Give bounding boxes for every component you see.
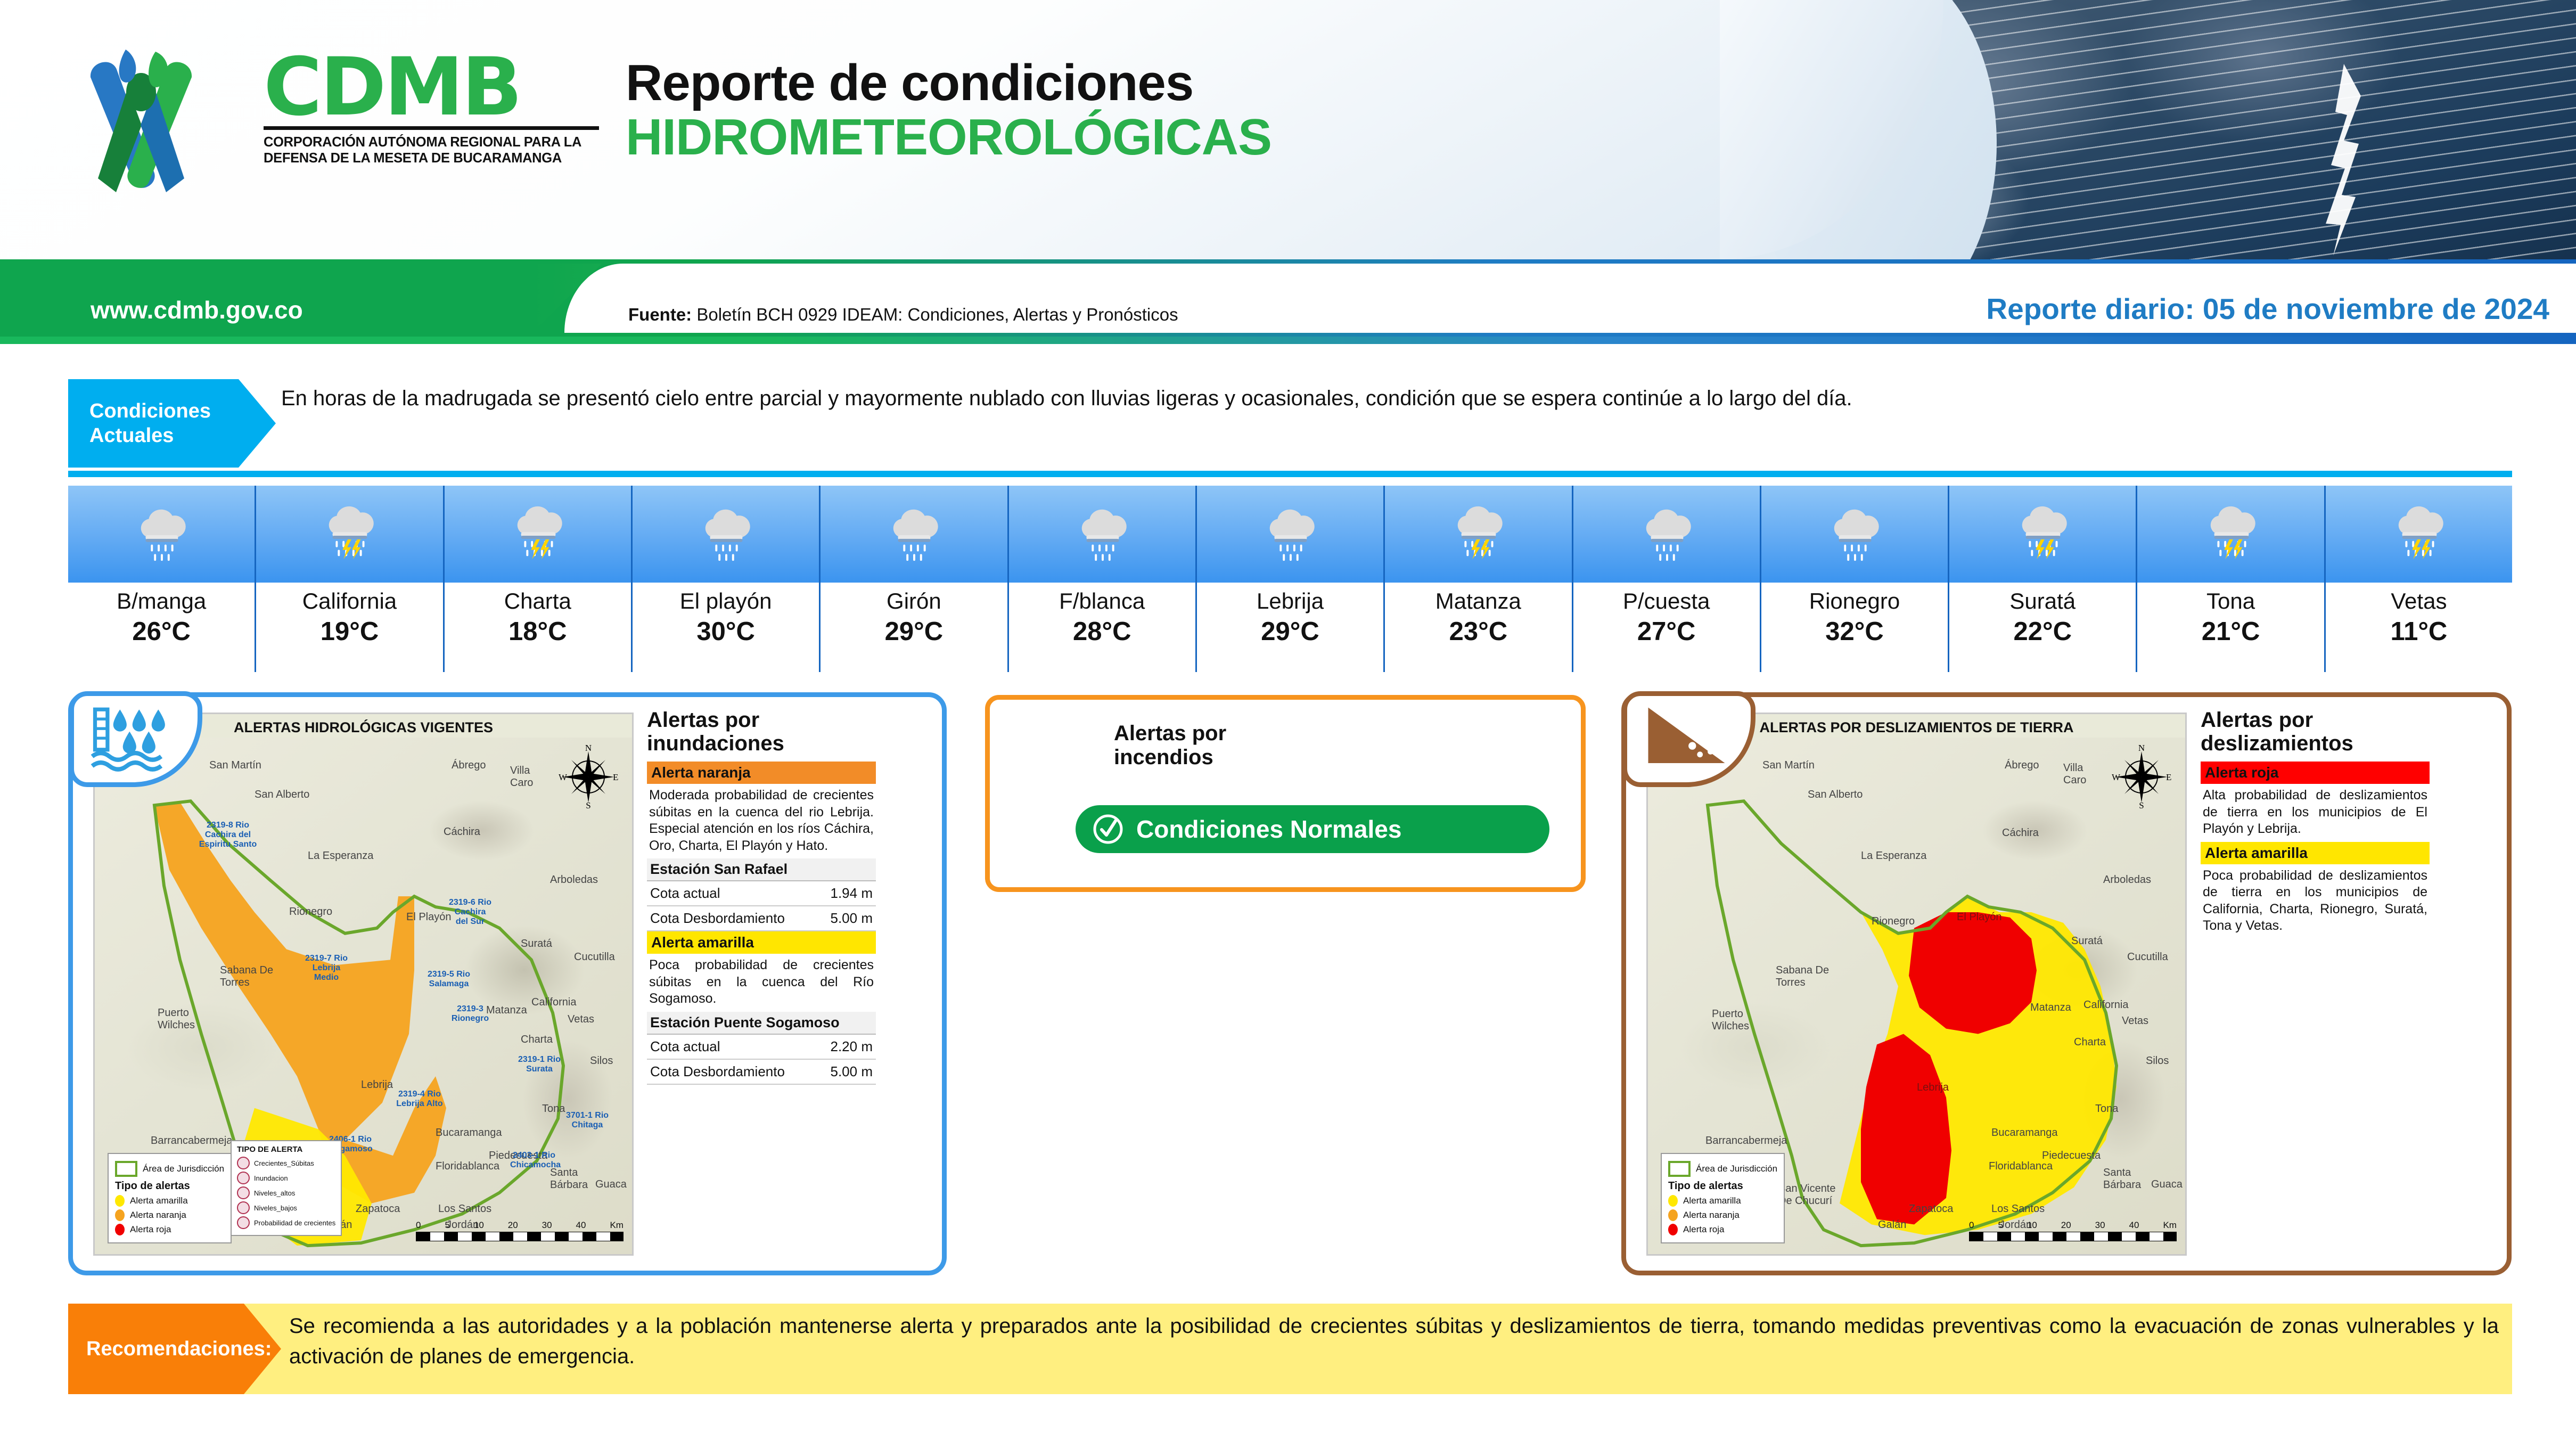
- landslide-alert-yellow-band: Alerta amarilla: [2201, 842, 2430, 864]
- map-place-label: Suratá: [2071, 935, 2103, 947]
- current-conditions-divider: [68, 471, 2512, 477]
- scale-numbers: 0510203040Km: [416, 1220, 624, 1231]
- weather-city-name: F/blanca: [1009, 590, 1195, 612]
- legend-orange-swatch: [1668, 1209, 1678, 1221]
- weather-temperature: 27°C: [1573, 619, 1760, 645]
- flood-map-alert-type-legend: TIPO DE ALERTA Crecientes_Súbitas Inunda…: [231, 1140, 342, 1236]
- map-place-label: Lebrija: [1917, 1082, 1949, 1094]
- row-label: Cota Desbordamiento: [650, 910, 785, 927]
- legend-jurisdiction-swatch: [115, 1161, 137, 1177]
- map-place-label: Floridablanca: [436, 1160, 499, 1173]
- map-place-label: Vetas: [568, 1013, 594, 1026]
- map-place-label: SantaBárbara: [550, 1167, 588, 1191]
- weather-temperature: 30°C: [633, 619, 819, 645]
- flood-panel-title: Alertas por inundaciones: [647, 708, 876, 755]
- flood-alert-orange-band: Alerta naranja: [647, 762, 876, 784]
- row-value: 1.94 m: [831, 885, 873, 902]
- flood-station-1-row: Cota Desbordamiento5.00 m: [647, 906, 876, 931]
- map-place-label: Los Santos: [438, 1203, 491, 1215]
- page-title: Reporte de condiciones HIDROMETEOROLÓGIC…: [626, 56, 1271, 165]
- map-place-label: Silos: [590, 1055, 613, 1067]
- map-place-label: San Martín: [209, 759, 261, 772]
- scale-number: 10: [474, 1220, 484, 1231]
- map-place-label: Sabana DeTorres: [1776, 964, 1829, 989]
- fire-panel-title: Alertas por incendios: [1114, 722, 1226, 769]
- weather-city-name: Tona: [2137, 590, 2324, 612]
- scale-number: 20: [2061, 1220, 2071, 1231]
- current-conditions-tag-line1: Condiciones: [89, 399, 276, 423]
- inundacion-icon: [237, 1172, 250, 1184]
- flood-badge: [69, 691, 202, 787]
- flood-station-2-row: Cota actual2.20 m: [647, 1035, 876, 1060]
- thunderstorm-icon: [2011, 503, 2074, 566]
- weather-city-name: Lebrija: [1197, 590, 1383, 612]
- recommendations-tag: Recomendaciones:: [68, 1304, 281, 1394]
- map-river-label: 2319-3Rionegro: [446, 1004, 494, 1024]
- map-place-label: Barrancabermeja: [151, 1135, 232, 1147]
- weather-temperature: 21°C: [2137, 619, 2324, 645]
- legend-item-label: Alerta naranja: [130, 1210, 186, 1221]
- scale-number: 20: [508, 1220, 518, 1231]
- flood-station-1-row: Cota actual1.94 m: [647, 881, 876, 906]
- alert-type-label: Crecientes_Súbitas: [254, 1159, 314, 1167]
- alert-type-legend-title: TIPO DE ALERTA: [237, 1145, 335, 1154]
- current-conditions-section: Condiciones Actuales En horas de la madr…: [68, 379, 2512, 468]
- thunderstorm-icon: [2388, 503, 2450, 566]
- scale-number: 30: [542, 1220, 552, 1231]
- landslide-map-legend: Área de Jurisdicción Tipo de alertas Ale…: [1661, 1153, 1785, 1243]
- map-place-label: El Playón: [1957, 911, 2002, 923]
- map-place-label: Zapatoca: [1909, 1203, 1953, 1215]
- weather-column-el-play-n: El playón 30°C: [633, 486, 821, 672]
- alert-type-label: Niveles_altos: [254, 1189, 295, 1197]
- map-place-label: La Esperanza: [1861, 850, 1926, 862]
- map-place-label: Cucutilla: [574, 951, 615, 963]
- svg-text:W: W: [2112, 772, 2121, 782]
- map-place-label: California: [2083, 999, 2128, 1011]
- landslide-alert-red-text: Alta probabilidad de deslizamientos de t…: [2201, 784, 2430, 842]
- flood-alert-yellow-text: Poca probabilidad de crecientes súbitas …: [647, 954, 876, 1012]
- weather-icon-cell: [2326, 486, 2512, 583]
- recommendations-text: Se recomienda a las autoridades y a la p…: [289, 1311, 2499, 1372]
- rain-cloud-icon: [1259, 503, 1322, 566]
- weather-temperature: 26°C: [68, 619, 255, 645]
- map-place-label: Barrancabermeja: [1705, 1135, 1787, 1147]
- cdmb-logo: CDMB CORPORACIÓN AUTÓNOMA REGIONAL PARA …: [75, 40, 607, 194]
- scale-number: 30: [2095, 1220, 2105, 1231]
- report-date: Reporte diario: 05 de noviembre de 2024: [1986, 292, 2549, 326]
- rain-cloud-icon: [1635, 503, 1698, 566]
- weather-city-name: El playón: [633, 590, 819, 612]
- scale-bar-graphic: [416, 1232, 624, 1241]
- legend-title: Tipo de alertas: [115, 1180, 224, 1192]
- info-bar-underline: [0, 337, 2576, 344]
- weather-icon-cell: [2137, 486, 2324, 583]
- legend-red-swatch: [1668, 1224, 1678, 1235]
- map-place-label: Suratá: [521, 938, 552, 950]
- crecientes-subitas-icon: [237, 1157, 250, 1169]
- lightning-bolt-icon: [2310, 64, 2379, 256]
- map-place-label: Tona: [542, 1103, 565, 1115]
- scale-number: 10: [2027, 1220, 2037, 1231]
- weather-city-name: California: [256, 590, 442, 612]
- map-place-label: San Martín: [1762, 759, 1815, 772]
- flood-map-legend: Área de Jurisdicción Tipo de alertas Ale…: [108, 1153, 232, 1243]
- weather-city-name: Charta: [445, 590, 631, 612]
- weather-temperature: 11°C: [2326, 619, 2512, 645]
- legend-jurisdiction-swatch: [1668, 1161, 1691, 1177]
- recommendations-tag-label: Recomendaciones:: [86, 1338, 272, 1361]
- svg-text:E: E: [2166, 772, 2171, 782]
- svg-text:W: W: [559, 772, 568, 782]
- landslide-map[interactable]: ALERTAS POR DESLIZAMIENTOS DE TIERRA San…: [1646, 713, 2187, 1256]
- weather-temperature: 29°C: [821, 619, 1007, 645]
- alert-type-label: Inundacion: [254, 1174, 288, 1182]
- website-url[interactable]: www.cdmb.gov.co: [91, 296, 303, 324]
- scale-numbers: 0510203040Km: [1969, 1220, 2177, 1231]
- fire-status-text: Condiciones Normales: [1136, 815, 1401, 844]
- svg-text:N: N: [585, 745, 592, 753]
- row-label: Cota actual: [650, 1038, 720, 1055]
- weather-city-name: B/manga: [68, 590, 255, 612]
- weather-column-surat-: Suratá 22°C: [1949, 486, 2137, 672]
- weather-strip: B/manga 26°C California 19°C Charta 18°C…: [68, 486, 2512, 672]
- weather-icon-cell: [1197, 486, 1383, 583]
- weather-column-charta: Charta 18°C: [445, 486, 633, 672]
- map-river-label: 2403-1 RioChicamocha: [510, 1151, 558, 1170]
- row-value: 5.00 m: [831, 910, 873, 927]
- rain-cloud-icon: [694, 503, 757, 566]
- map-place-label: Bucaramanga: [1991, 1127, 2058, 1139]
- map-place-label: VillaCaro: [2063, 762, 2086, 787]
- landslide-panel-title: Alertas por deslizamientos: [2201, 708, 2430, 755]
- thunderstorm-icon: [318, 503, 381, 566]
- weather-city-name: Suratá: [1949, 590, 2136, 612]
- map-river-label: 2319-6 RioCachiradel Sur: [446, 898, 494, 927]
- logo-subtitle-line1: CORPORACIÓN AUTÓNOMA REGIONAL PARA LA: [264, 134, 604, 150]
- weather-city-name: Girón: [821, 590, 1007, 612]
- legend-item-label: Alerta roja: [1683, 1224, 1724, 1235]
- alert-type-label: Probabilidad de crecientes: [254, 1219, 335, 1227]
- scale-unit: Km: [2163, 1220, 2177, 1231]
- weather-temperature: 28°C: [1009, 619, 1195, 645]
- svg-text:S: S: [586, 800, 590, 809]
- weather-column-p-cuesta: P/cuesta 27°C: [1573, 486, 1761, 672]
- map-place-label: Charta: [2074, 1036, 2106, 1049]
- map-place-label: Guaca: [595, 1178, 627, 1191]
- map-river-label: 2319-5 RioSalamaga: [425, 970, 473, 989]
- compass-rose-icon: N S W E: [2110, 745, 2173, 809]
- map-place-label: Vetas: [2122, 1015, 2148, 1027]
- niveles-bajos-icon: [237, 1201, 250, 1214]
- row-value: 2.20 m: [831, 1038, 873, 1055]
- map-place-label: SantaBárbara: [2103, 1167, 2141, 1191]
- weather-icon-cell: [633, 486, 819, 583]
- logo-subtitle-line2: DEFENSA DE LA MESETA DE BUCARAMANGA: [264, 150, 604, 166]
- map-place-label: Bucaramanga: [436, 1127, 502, 1139]
- map-place-label: Zapatoca: [356, 1203, 400, 1215]
- thunderstorm-icon: [1447, 503, 1509, 566]
- map-place-label: Floridablanca: [1989, 1160, 2053, 1173]
- map-place-label: Cáchira: [444, 826, 480, 838]
- legend-item-label: Alerta amarilla: [1683, 1196, 1741, 1206]
- svg-text:N: N: [2138, 745, 2145, 753]
- weather-icon-cell: [821, 486, 1007, 583]
- recommendations-section: Recomendaciones: Se recomienda a las aut…: [68, 1304, 2512, 1394]
- report-date-label: Reporte diario:: [1986, 292, 2194, 325]
- legend-orange-swatch: [115, 1209, 125, 1221]
- legend-title: Tipo de alertas: [1668, 1180, 1777, 1192]
- flood-station-2-row: Cota Desbordamiento5.00 m: [647, 1060, 876, 1085]
- weather-column-lebrija: Lebrija 29°C: [1197, 486, 1385, 672]
- map-place-label: Silos: [2146, 1055, 2169, 1067]
- scale-number: 40: [2129, 1220, 2139, 1231]
- flood-station-2-name: Estación Puente Sogamoso: [647, 1012, 876, 1035]
- map-place-label: El Playón: [406, 911, 452, 923]
- scale-number: 5: [1998, 1220, 2003, 1231]
- fire-title-line2: incendios: [1114, 746, 1226, 769]
- map-place-label: Cucutilla: [2127, 951, 2168, 963]
- landslide-icon: [1627, 696, 1751, 782]
- legend-yellow-swatch: [1668, 1195, 1678, 1207]
- map-place-label: Matanza: [2030, 1002, 2071, 1014]
- current-conditions-text: En horas de la madrugada se presentó cie…: [281, 383, 2501, 414]
- weather-icon-cell: [445, 486, 631, 583]
- landslide-alert-column: Alertas por deslizamientos Alerta roja A…: [2201, 708, 2430, 939]
- weather-column-gir-n: Girón 29°C: [821, 486, 1008, 672]
- map-place-label: Lebrija: [361, 1079, 393, 1091]
- row-label: Cota actual: [650, 885, 720, 902]
- page-header: CDMB CORPORACIÓN AUTÓNOMA REGIONAL PARA …: [0, 0, 2576, 259]
- legend-item-label: Alerta roja: [130, 1224, 171, 1235]
- map-place-label: San VicenteDe Chucurí: [1778, 1183, 1836, 1207]
- weather-column-tona: Tona 21°C: [2137, 486, 2325, 672]
- map-place-label: Galán: [1878, 1219, 1906, 1231]
- niveles-altos-icon: [237, 1186, 250, 1199]
- scale-number: 0: [416, 1220, 421, 1231]
- rain-cloud-icon: [1823, 503, 1886, 566]
- weather-temperature: 23°C: [1385, 619, 1571, 645]
- compass-rose-icon: N S W E: [556, 745, 620, 809]
- map-place-label: Charta: [521, 1034, 553, 1046]
- cdmb-logo-mark-icon: [75, 40, 261, 194]
- flood-map-scale-bar: 0510203040Km: [416, 1220, 624, 1241]
- weather-column-california: California 19°C: [256, 486, 444, 672]
- scale-bar-graphic: [1969, 1232, 2177, 1241]
- map-place-label: La Esperanza: [308, 850, 373, 862]
- landslide-alert-yellow-text: Poca probabilidad de deslizamientos de t…: [2201, 864, 2430, 939]
- scale-number: 40: [576, 1220, 586, 1231]
- weather-icon-cell: [256, 486, 442, 583]
- map-place-label: Sabana DeTorres: [220, 964, 273, 989]
- weather-temperature: 32°C: [1761, 619, 1948, 645]
- scale-number: 5: [445, 1220, 449, 1231]
- map-place-label: California: [531, 996, 576, 1009]
- legend-jurisdiction-label: Área de Jurisdicción: [143, 1164, 224, 1174]
- flood-alert-orange-text: Moderada probabilidad de crecientes súbi…: [647, 784, 876, 858]
- thunderstorm-icon: [2200, 503, 2262, 566]
- legend-jurisdiction-label: Área de Jurisdicción: [1696, 1164, 1777, 1174]
- title-line-2: HIDROMETEOROLÓGICAS: [626, 110, 1271, 165]
- current-conditions-tag: Condiciones Actuales: [68, 379, 276, 468]
- weather-column-f-blanca: F/blanca 28°C: [1009, 486, 1197, 672]
- map-river-label: 2319-8 RioCachira delEspiritu Santo: [196, 821, 260, 849]
- weather-column-rionegro: Rionegro 32°C: [1761, 486, 1949, 672]
- map-river-label: 2319-4 RioLebrija Alto: [396, 1090, 444, 1109]
- weather-city-name: Vetas: [2326, 590, 2512, 612]
- row-value: 5.00 m: [831, 1063, 873, 1080]
- svg-text:S: S: [2139, 800, 2144, 809]
- source-label: Fuente:: [628, 305, 692, 324]
- weather-city-name: Rionegro: [1761, 590, 1948, 612]
- logo-acronym: CDMB: [264, 51, 604, 124]
- title-line-1: Reporte de condiciones: [626, 56, 1271, 110]
- weather-icon-cell: [1761, 486, 1948, 583]
- weather-temperature: 19°C: [256, 619, 442, 645]
- legend-item-label: Alerta naranja: [1683, 1210, 1740, 1221]
- map-place-label: Tona: [2095, 1103, 2118, 1115]
- map-place-label: Guaca: [2151, 1178, 2183, 1191]
- thunderstorm-icon: [506, 503, 569, 566]
- probabilidad-crecientes-icon: [237, 1216, 250, 1229]
- legend-red-swatch: [115, 1224, 125, 1235]
- map-place-label: Arboledas: [550, 874, 598, 886]
- map-place-label: PuertoWilches: [158, 1007, 195, 1032]
- map-river-label: 3701-1 RioChitaga: [566, 1111, 609, 1130]
- weather-column-b-manga: B/manga 26°C: [68, 486, 256, 672]
- alert-type-label: Niveles_bajos: [254, 1204, 297, 1212]
- flood-alert-column: Alertas por inundaciones Alerta naranja …: [647, 708, 876, 1085]
- map-place-label: Rionegro: [289, 906, 332, 918]
- fire-status-badge: Condiciones Normales: [1076, 805, 1549, 853]
- map-place-label: Ábrego: [2005, 759, 2039, 772]
- landslide-alert-red-band: Alerta roja: [2201, 762, 2430, 784]
- weather-city-name: P/cuesta: [1573, 590, 1760, 612]
- source-text: Fuente: Boletín BCH 0929 IDEAM: Condicio…: [628, 305, 1178, 325]
- check-circle-icon: [1092, 813, 1125, 846]
- weather-icon-cell: [1949, 486, 2136, 583]
- rain-cloud-icon: [1071, 503, 1134, 566]
- map-place-label: Rionegro: [1872, 915, 1915, 928]
- flood-station-1-name: Estación San Rafael: [647, 858, 876, 881]
- weather-temperature: 22°C: [1949, 619, 2136, 645]
- map-river-label: 2319-1 RioSurata: [515, 1055, 563, 1074]
- weather-column-matanza: Matanza 23°C: [1385, 486, 1573, 672]
- map-place-label: Cáchira: [2002, 827, 2039, 839]
- weather-temperature: 18°C: [445, 619, 631, 645]
- row-label: Cota Desbordamiento: [650, 1063, 785, 1080]
- map-place-label: San Alberto: [1808, 789, 1863, 801]
- map-river-label: 2319-7 RioLebrijaMedio: [305, 954, 348, 983]
- weather-icon-cell: [68, 486, 255, 583]
- weather-icon-cell: [1573, 486, 1760, 583]
- scale-number: 0: [1969, 1220, 1974, 1231]
- legend-yellow-swatch: [115, 1195, 125, 1207]
- weather-temperature: 29°C: [1197, 619, 1383, 645]
- flood-map[interactable]: ALERTAS HIDROLÓGICAS VIGENTES San Martín…: [93, 713, 634, 1256]
- map-place-label: Los Santos: [1991, 1203, 2045, 1215]
- fire-title-line1: Alertas por: [1114, 722, 1226, 746]
- map-place-label: PuertoWilches: [1712, 1008, 1749, 1033]
- weather-column-vetas: Vetas 11°C: [2326, 486, 2512, 672]
- source-detail: Boletín BCH 0929 IDEAM: Condiciones, Ale…: [696, 305, 1178, 324]
- fire-alerts-panel: [985, 695, 1586, 892]
- map-place-label: VillaCaro: [510, 765, 533, 789]
- svg-text:E: E: [613, 772, 618, 782]
- rain-cloud-icon: [882, 503, 945, 566]
- report-date-value: 05 de noviembre de 2024: [2203, 292, 2549, 325]
- rain-cloud-icon: [130, 503, 193, 566]
- weather-city-name: Matanza: [1385, 590, 1571, 612]
- landslide-map-scale-bar: 0510203040Km: [1969, 1220, 2177, 1241]
- map-place-label: San Alberto: [255, 789, 309, 801]
- weather-icon-cell: [1009, 486, 1195, 583]
- scale-unit: Km: [610, 1220, 624, 1231]
- legend-item-label: Alerta amarilla: [130, 1196, 188, 1206]
- weather-icon-cell: [1385, 486, 1571, 583]
- current-conditions-tag-line2: Actuales: [89, 423, 276, 448]
- flood-alert-yellow-band: Alerta amarilla: [647, 931, 876, 954]
- map-place-label: Ábrego: [452, 759, 486, 772]
- landslide-badge: [1622, 691, 1755, 787]
- map-place-label: Arboledas: [2103, 874, 2151, 886]
- water-level-gauge-icon: [74, 696, 198, 782]
